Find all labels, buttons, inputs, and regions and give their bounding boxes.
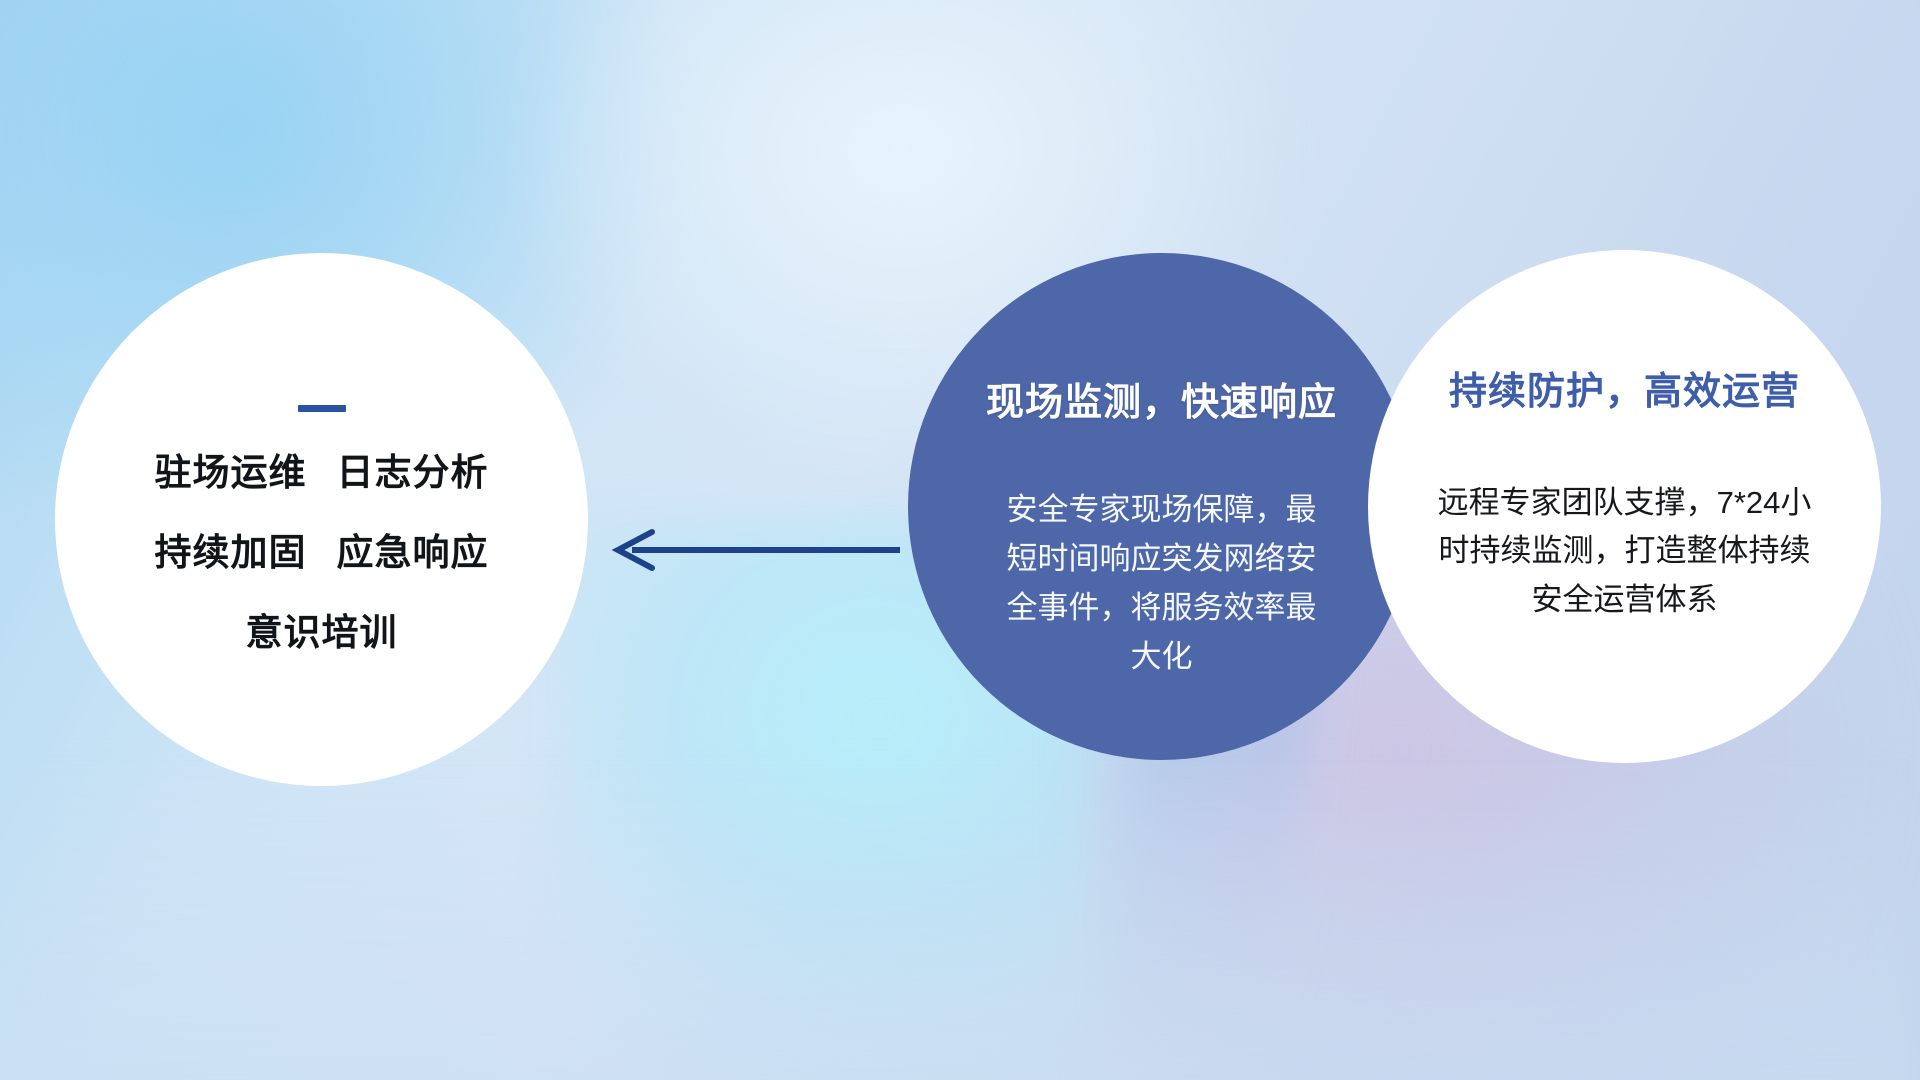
skills-circle-content: 驻场运维 日志分析 持续加固 应急响应 意识培训 bbox=[55, 253, 588, 786]
skill-tag-emergency-response: 应急响应 bbox=[337, 534, 489, 571]
onsite-circle-body: 安全专家现场保障，最短时间响应突发网络安全事件，将服务效率最大化 bbox=[1001, 486, 1323, 682]
slide-canvas: 驻场运维 日志分析 持续加固 应急响应 意识培训 现场监测，快速响应 安全专家现… bbox=[0, 0, 1920, 1080]
remote-circle-heading: 持续防护，高效运营 bbox=[1449, 360, 1800, 415]
skills-row-2: 持续加固 应急响应 bbox=[155, 534, 489, 571]
skill-tag-onsite-ops: 驻场运维 bbox=[155, 454, 307, 491]
background-glow-bottom bbox=[0, 760, 1920, 1080]
skills-row-1: 驻场运维 日志分析 bbox=[155, 454, 489, 491]
onsite-monitoring-circle[interactable]: 现场监测，快速响应 安全专家现场保障，最短时间响应突发网络安全事件，将服务效率最… bbox=[908, 253, 1415, 760]
remote-circle-content: 持续防护，高效运营 远程专家团队支撑，7*24小时持续监测，打造整体持续安全运营… bbox=[1368, 250, 1881, 763]
skill-tag-continuous-hardening: 持续加固 bbox=[155, 534, 307, 571]
skills-circle[interactable]: 驻场运维 日志分析 持续加固 应急响应 意识培训 bbox=[55, 253, 588, 786]
skills-row-3: 意识培训 bbox=[246, 614, 398, 651]
arrow-left-icon bbox=[600, 520, 900, 580]
onsite-circle-content: 现场监测，快速响应 安全专家现场保障，最短时间响应突发网络安全事件，将服务效率最… bbox=[908, 253, 1415, 760]
remote-circle-body: 远程专家团队支撑，7*24小时持续监测，打造整体持续安全运营体系 bbox=[1437, 479, 1813, 624]
blue-dash-divider-icon bbox=[298, 405, 346, 412]
skill-tag-awareness-training: 意识培训 bbox=[246, 614, 398, 651]
onsite-circle-heading: 现场监测，快速响应 bbox=[986, 371, 1337, 426]
remote-operations-circle[interactable]: 持续防护，高效运营 远程专家团队支撑，7*24小时持续监测，打造整体持续安全运营… bbox=[1368, 250, 1881, 763]
skill-tag-log-analysis: 日志分析 bbox=[337, 454, 489, 491]
